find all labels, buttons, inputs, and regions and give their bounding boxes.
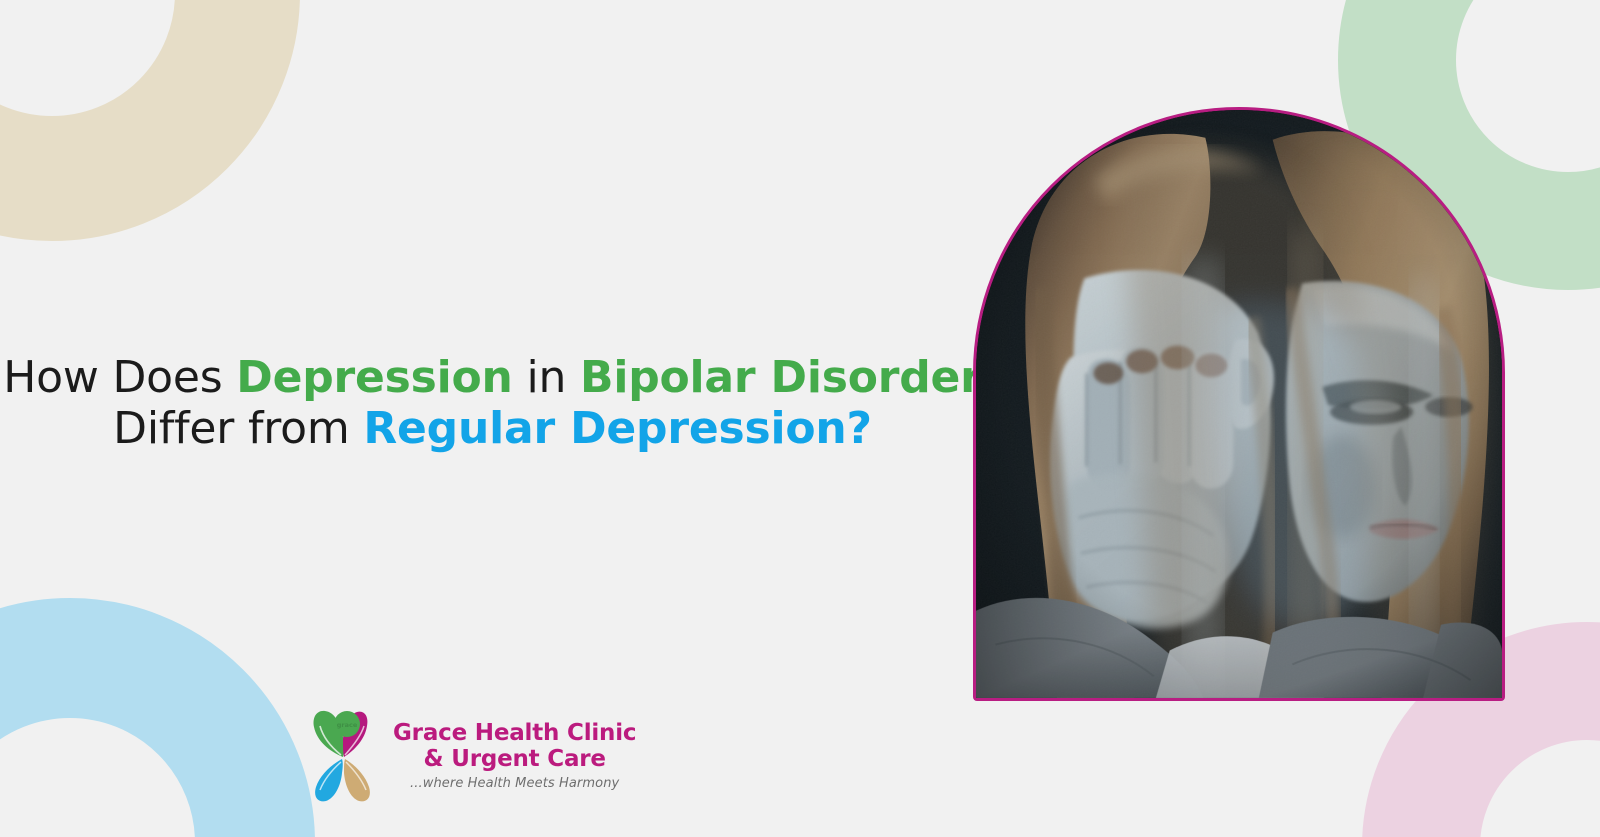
- headline: How Does Depression in Bipolar Disorder …: [0, 352, 985, 454]
- brand-name-line-2: & Urgent Care: [393, 747, 636, 773]
- brand-text-block: Grace Health Clinic & Urgent Care ...whe…: [393, 717, 636, 792]
- decor-ring-top-left: [0, 0, 300, 241]
- headline-text-in: in: [513, 352, 580, 403]
- logo-badge-text: grace: [337, 721, 358, 729]
- headline-text-bipolar-disorder: Bipolar Disorder: [580, 352, 982, 403]
- poster-canvas: How Does Depression in Bipolar Disorder …: [0, 0, 1600, 837]
- brand-logo[interactable]: grace Grace Health Clinic & Urgent Care …: [307, 705, 636, 803]
- headline-text-regular-depression: Regular Depression?: [363, 403, 871, 454]
- headline-text-differ-from: Differ from: [113, 403, 363, 454]
- headline-text-how-does: How Does: [3, 352, 236, 403]
- headline-line-2: Differ from Regular Depression?: [0, 403, 985, 454]
- brand-name-line-1: Grace Health Clinic: [393, 721, 636, 747]
- brand-tagline: ...where Health Meets Harmony: [393, 776, 636, 791]
- headline-line-1: How Does Depression in Bipolar Disorder: [0, 352, 985, 403]
- hero-photo-artwork: [976, 110, 1502, 698]
- decor-ring-bottom-left: [0, 598, 315, 837]
- headline-text-depression: Depression: [236, 352, 512, 403]
- hero-photo: [973, 107, 1505, 701]
- grace-health-leaf-logo-icon: grace: [307, 705, 379, 803]
